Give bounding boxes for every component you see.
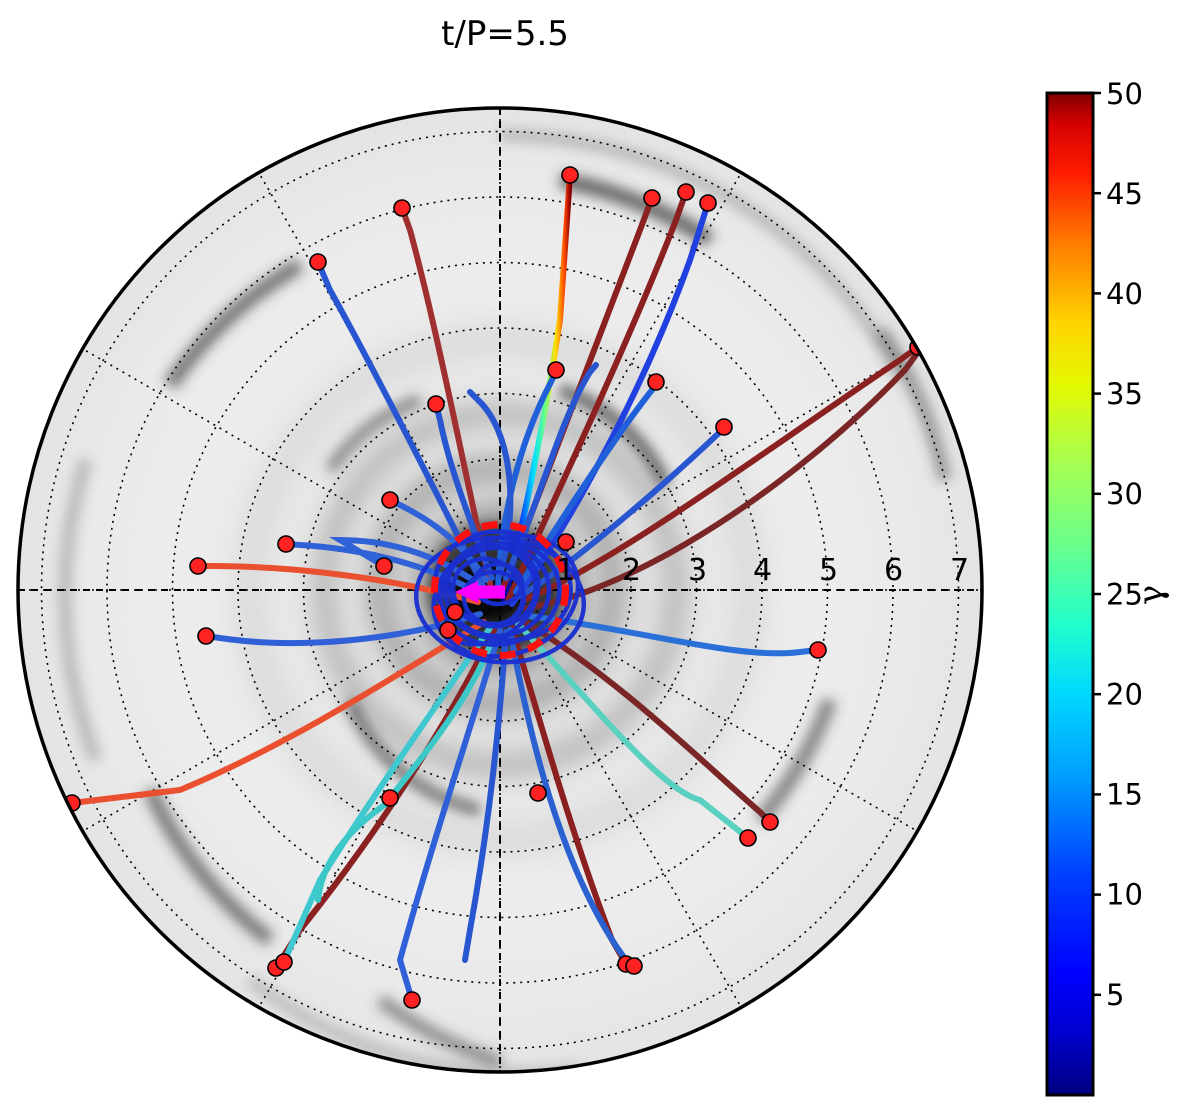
radial-tick-7: 7 bbox=[950, 553, 969, 588]
cbar-tick-20: 20 bbox=[1106, 678, 1143, 712]
colorbar-svg: 50 45 40 35 30 25 20 15 10 5 γ bbox=[1040, 80, 1200, 1110]
radial-tick-2: 2 bbox=[622, 553, 641, 588]
polar-plot-svg: 1 2 3 4 5 6 7 bbox=[0, 0, 1010, 1111]
polar-plot-area: 1 2 3 4 5 6 7 bbox=[0, 0, 1010, 1111]
radial-tick-5: 5 bbox=[819, 553, 838, 588]
cbar-tick-5: 5 bbox=[1106, 978, 1124, 1012]
radial-tick-1: 1 bbox=[556, 553, 575, 588]
colorbar: 50 45 40 35 30 25 20 15 10 5 γ bbox=[1040, 80, 1200, 1110]
disc-density-field bbox=[18, 108, 982, 1074]
colorbar-gradient bbox=[1047, 93, 1093, 1095]
radial-tick-4: 4 bbox=[753, 553, 772, 588]
cbar-tick-50: 50 bbox=[1106, 80, 1143, 111]
radial-tick-3: 3 bbox=[688, 553, 707, 588]
cbar-tick-40: 40 bbox=[1106, 277, 1143, 311]
colorbar-axis-label: γ bbox=[1131, 585, 1171, 605]
colorbar-tick-labels: 50 45 40 35 30 25 20 15 10 5 bbox=[1106, 80, 1143, 1012]
cbar-tick-30: 30 bbox=[1106, 477, 1143, 511]
cbar-tick-45: 45 bbox=[1106, 177, 1143, 211]
cbar-tick-35: 35 bbox=[1106, 377, 1143, 411]
radial-tick-6: 6 bbox=[884, 553, 903, 588]
cbar-tick-10: 10 bbox=[1106, 878, 1143, 912]
cbar-tick-15: 15 bbox=[1106, 778, 1143, 812]
figure-root: t/P=5.5 bbox=[0, 0, 1200, 1111]
